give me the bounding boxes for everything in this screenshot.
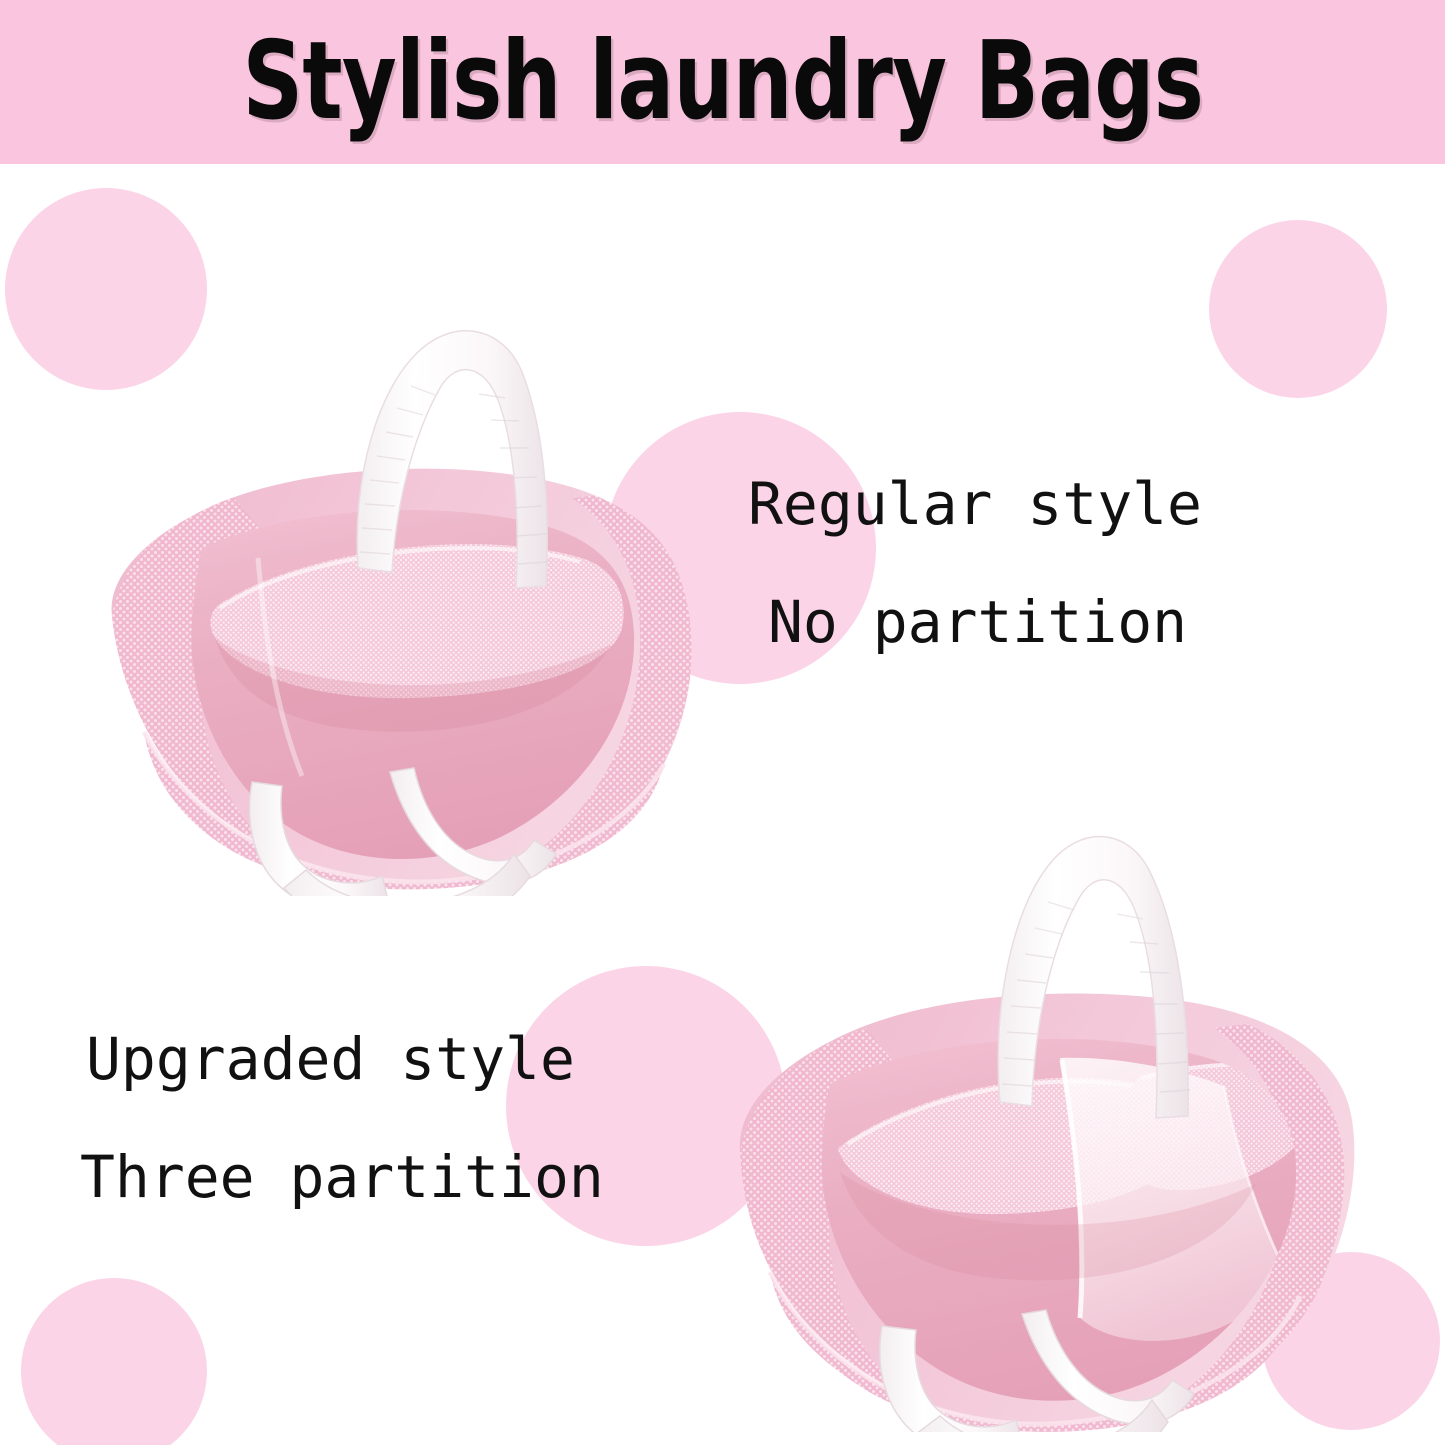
product-image-upgraded-bag [700, 672, 1380, 1432]
decorative-circle-bottom-left [21, 1278, 207, 1445]
header-banner: Stylish laundry Bags [0, 0, 1445, 164]
page-title: Stylish laundry Bags [242, 28, 1203, 136]
label-upgraded-partition-line: Three partition [80, 1118, 604, 1236]
label-upgraded-style: Upgraded style Three partition [80, 1000, 604, 1236]
label-regular-style: Regular style No partition [738, 445, 1202, 681]
label-upgraded-style-line: Upgraded style [86, 1000, 604, 1118]
decorative-circle-top-right [1209, 220, 1387, 398]
product-image-regular-bag [52, 176, 732, 896]
label-regular-partition-line: No partition [768, 563, 1202, 681]
product-feature-image: Stylish laundry Bags [0, 0, 1445, 1445]
label-regular-style-line: Regular style [748, 445, 1202, 563]
